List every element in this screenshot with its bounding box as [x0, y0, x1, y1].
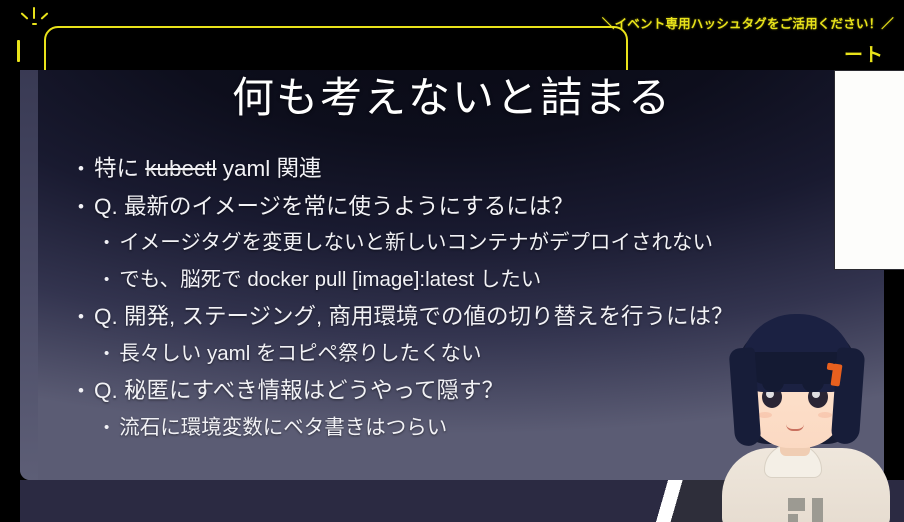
avatar-hair-side-right — [831, 347, 866, 445]
bullet-marker: • — [78, 298, 84, 336]
overlay-left-tick — [17, 40, 20, 62]
hashtag-reminder-text: ＼イベント専用ハッシュタグをご活用ください！／ — [602, 13, 894, 32]
bullet-marker: • — [104, 225, 109, 262]
bullet-marker: • — [104, 410, 109, 447]
avatar-shirt-logo-icon — [788, 498, 832, 522]
bullet-marker: • — [78, 150, 84, 188]
top-overlay-band: ＼イベント専用ハッシュタグをご活用ください！／ ート — [0, 0, 904, 70]
bullet-item: • Q. 最新のイメージを常に使うようにするには？ — [78, 188, 844, 226]
bullet-item: • 特に kubectl yaml 関連 — [78, 150, 844, 188]
bullet-text: Q. 最新のイメージを常に使うようにするには？ — [94, 188, 574, 226]
avatar-blush-right — [818, 412, 832, 418]
bullet-item: • イメージタグを変更しないと新しいコンテナがデプロイされない — [104, 225, 844, 262]
bullet-text: Q. 開発, ステージング, 商用環境での値の切り替えを行うには？ — [94, 298, 734, 336]
avatar — [692, 300, 904, 522]
bullet-item: • でも、脳死で docker pull [image]:latest したい — [104, 262, 844, 299]
bullet-text: Q. 秘匿にすべき情報はどうやって隠す？ — [94, 372, 504, 410]
bullet-marker: • — [104, 262, 109, 299]
bullet-text-struck: kubectl — [145, 156, 216, 181]
bullet-text: 特に kubectl yaml 関連 — [94, 150, 322, 188]
sparkle-icon — [18, 6, 52, 32]
bullet-text: イメージタグを変更しないと新しいコンテナがデプロイされない — [119, 225, 713, 262]
slide-title: 何も考えないと詰まる — [20, 75, 884, 121]
overlay-frame — [44, 26, 628, 70]
bullet-text: 長々しい yaml をコピペ祭りしたくない — [119, 336, 481, 373]
bullet-text-post: yaml 関連 — [217, 156, 322, 181]
bullet-marker: • — [104, 336, 109, 373]
bullet-text-pre: 特に — [94, 156, 145, 181]
bullet-text: でも、脳死で docker pull [image]:latest したい — [119, 262, 541, 299]
bullet-marker: • — [78, 188, 84, 226]
avatar-blush-left — [758, 412, 772, 418]
bullet-text: 流石に環境変数にベタ書きはつらい — [119, 410, 447, 447]
stream-screenshot: 何も考えないと詰まる • 特に kubectl yaml 関連 • Q. 最新の… — [0, 0, 904, 522]
white-side-panel — [834, 70, 904, 270]
slide-left-strip — [20, 55, 38, 480]
overlay-cut-label: ート — [844, 40, 884, 67]
band-left-edge — [0, 480, 20, 522]
bullet-marker: • — [78, 372, 84, 410]
